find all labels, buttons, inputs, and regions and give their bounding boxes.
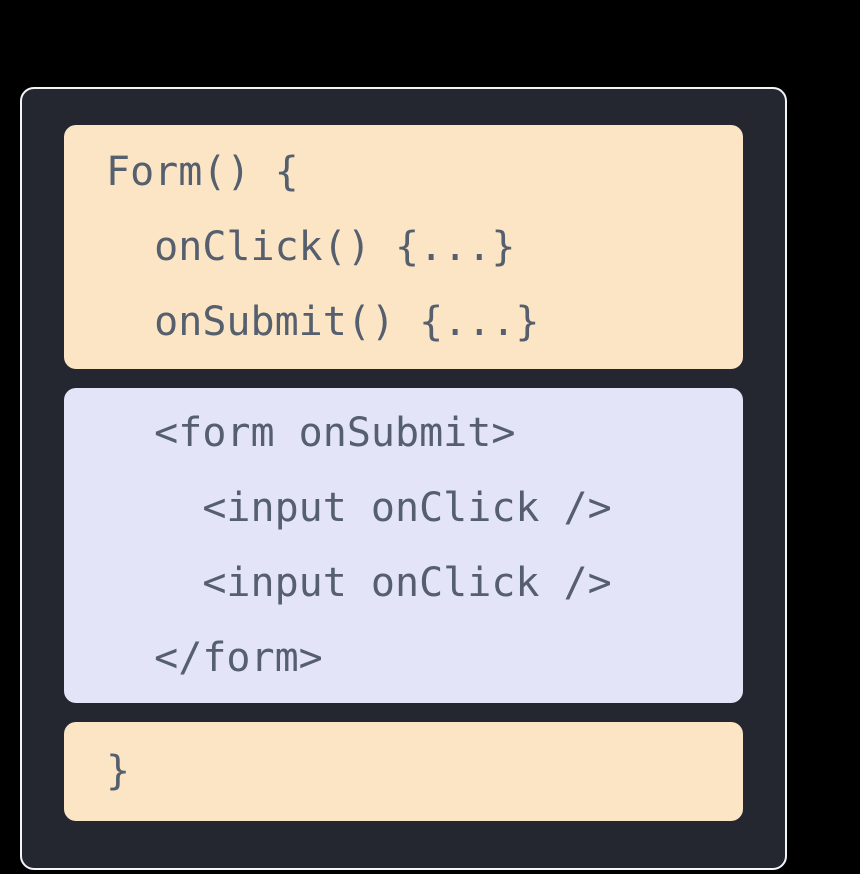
code-panel-markup-body: <form onSubmit> <input onClick /> <input… [64,388,743,703]
code-line: Form() { [64,135,743,210]
code-line: <input onClick /> [64,546,743,621]
code-line: </form> [64,621,743,696]
code-line: onSubmit() {...} [64,285,743,360]
code-line: <input onClick /> [64,471,743,546]
code-line: } [64,734,743,809]
code-line: onClick() {...} [64,210,743,285]
diagram-canvas: Form() { onClick() {...} onSubmit() {...… [0,0,860,874]
code-panel-component-tail: } [64,722,743,821]
code-panel-component-head: Form() { onClick() {...} onSubmit() {...… [64,125,743,369]
code-card: Form() { onClick() {...} onSubmit() {...… [20,87,787,870]
code-line: <form onSubmit> [64,396,743,471]
